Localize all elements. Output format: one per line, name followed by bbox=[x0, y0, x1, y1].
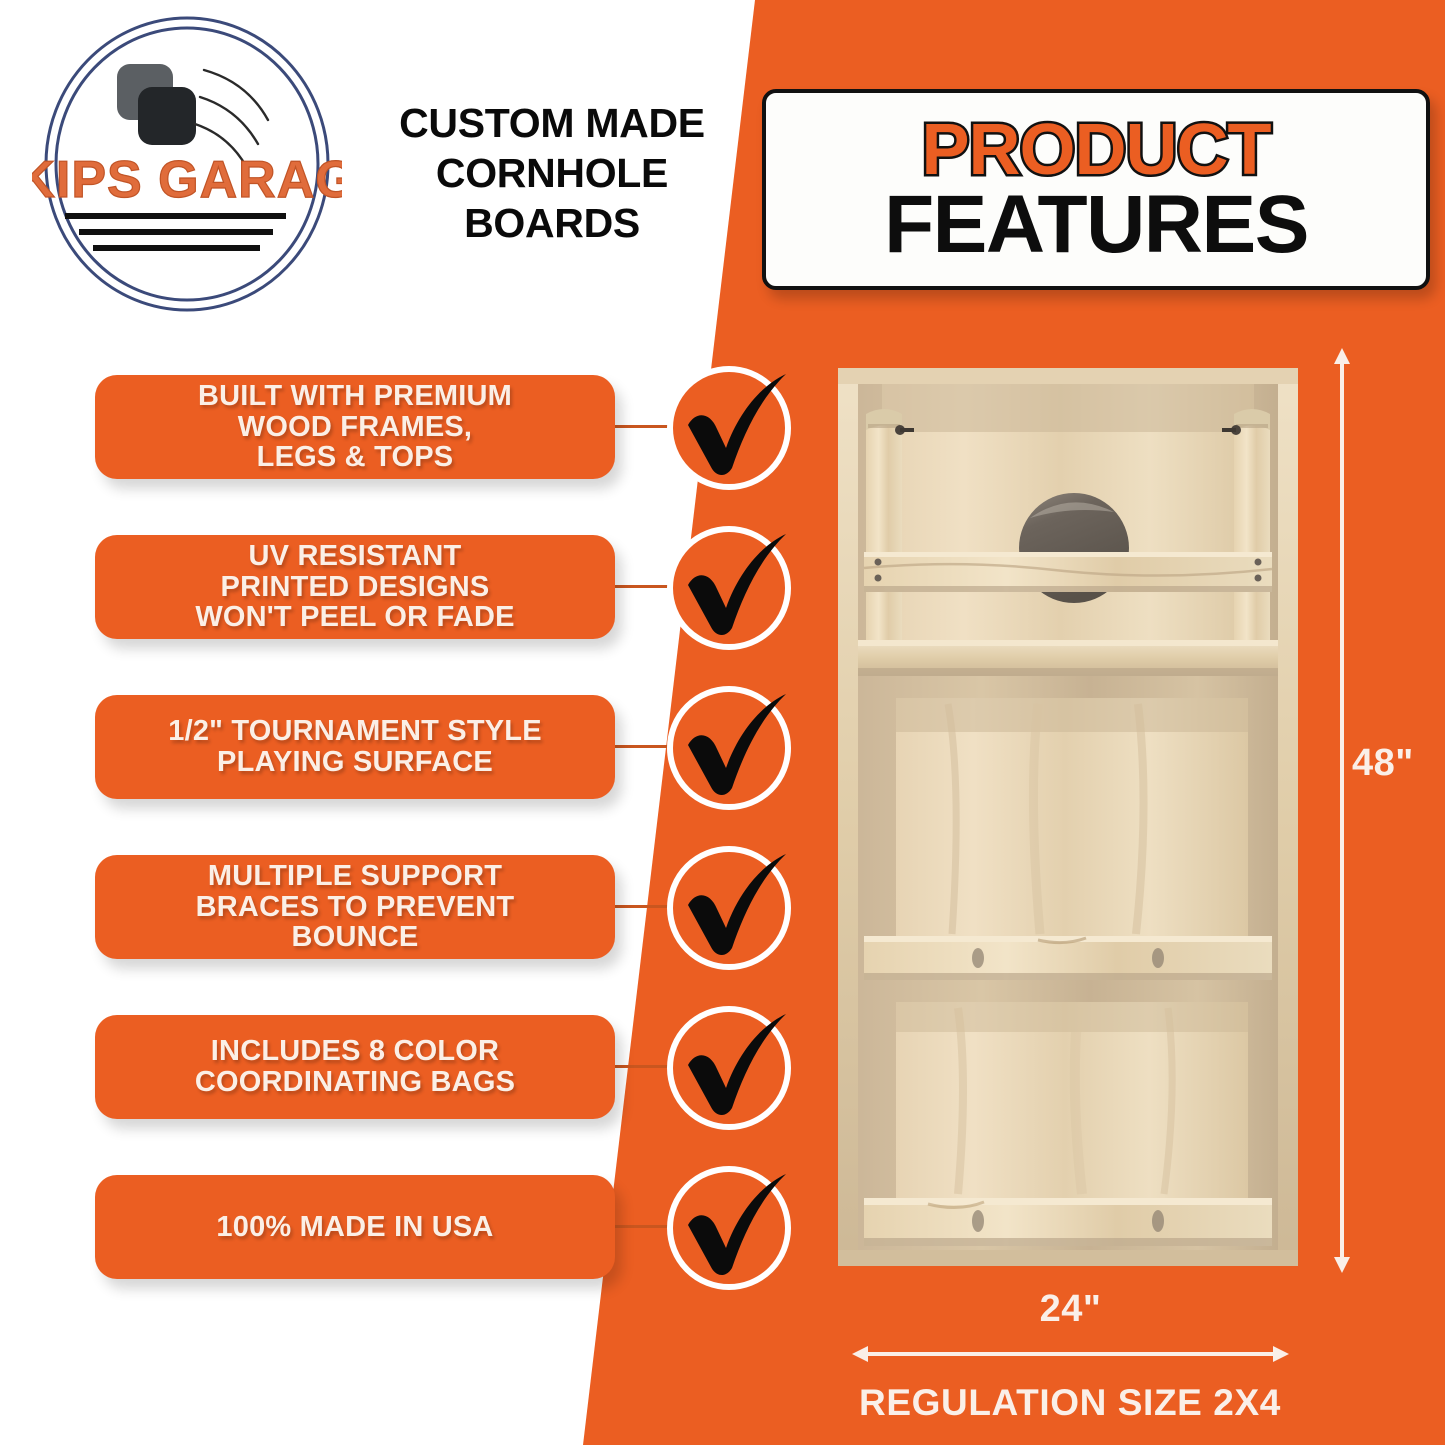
page-title: CUSTOM MADE CORNHOLE BOARDS bbox=[352, 98, 752, 248]
feature-row: 100% MADE IN USA bbox=[0, 1165, 830, 1325]
feature-text-line: BUILT WITH PREMIUM bbox=[198, 380, 512, 412]
feature-text-line: WOOD FRAMES, bbox=[238, 411, 472, 443]
feature-text-line: 100% MADE IN USA bbox=[216, 1211, 493, 1243]
title-line-2: CORNHOLE bbox=[352, 148, 752, 198]
checkmark-icon bbox=[668, 367, 790, 489]
svg-text:SKIPS GARAGE: SKIPS GARAGE bbox=[32, 151, 342, 209]
feature-row: INCLUDES 8 COLOR COORDINATING BAGS bbox=[0, 1005, 830, 1165]
feature-text-line: LEGS & TOPS bbox=[257, 441, 454, 473]
height-dimension-label: 48" bbox=[1352, 742, 1414, 785]
feature-text-line: UV RESISTANT bbox=[249, 540, 462, 572]
height-dimension-arrow bbox=[1330, 348, 1354, 1273]
feature-pill[interactable]: BUILT WITH PREMIUM WOOD FRAMES, LEGS & T… bbox=[95, 375, 615, 479]
feature-pill[interactable]: 1/2" TOURNAMENT STYLE PLAYING SURFACE bbox=[95, 695, 615, 799]
checkmark-icon bbox=[668, 527, 790, 649]
checkmark-icon bbox=[668, 847, 790, 969]
feature-row: BUILT WITH PREMIUM WOOD FRAMES, LEGS & T… bbox=[0, 365, 830, 525]
checkmark-icon bbox=[668, 1167, 790, 1289]
product-features-banner: PRODUCT FEATURES bbox=[762, 89, 1430, 290]
infographic-canvas: SKIPS GARAGE CUSTOM MADE CORNHOLE BOARDS… bbox=[0, 0, 1445, 1445]
banner-line-features: FEATURES bbox=[884, 186, 1308, 264]
feature-text-line: WON'T PEEL OR FADE bbox=[195, 601, 514, 633]
feature-text-line: BRACES TO PREVENT bbox=[196, 891, 515, 923]
regulation-size-caption: REGULATION SIZE 2X4 bbox=[760, 1382, 1380, 1424]
feature-row: UV RESISTANT PRINTED DESIGNS WON'T PEEL … bbox=[0, 525, 830, 685]
cornhole-board-photo bbox=[838, 368, 1298, 1266]
feature-pill-text: MULTIPLE SUPPORT BRACES TO PREVENT BOUNC… bbox=[196, 861, 515, 953]
feature-row: MULTIPLE SUPPORT BRACES TO PREVENT BOUNC… bbox=[0, 845, 830, 1005]
feature-row: 1/2" TOURNAMENT STYLE PLAYING SURFACE bbox=[0, 685, 830, 845]
feature-pill[interactable]: UV RESISTANT PRINTED DESIGNS WON'T PEEL … bbox=[95, 535, 615, 639]
feature-pill[interactable]: INCLUDES 8 COLOR COORDINATING BAGS bbox=[95, 1015, 615, 1119]
feature-pill-text: 1/2" TOURNAMENT STYLE PLAYING SURFACE bbox=[168, 716, 542, 777]
feature-text-line: COORDINATING BAGS bbox=[195, 1066, 515, 1098]
feature-pill-text: UV RESISTANT PRINTED DESIGNS WON'T PEEL … bbox=[195, 541, 514, 633]
feature-pill[interactable]: MULTIPLE SUPPORT BRACES TO PREVENT BOUNC… bbox=[95, 855, 615, 959]
feature-text-line: PRINTED DESIGNS bbox=[221, 571, 490, 603]
feature-text-line: PLAYING SURFACE bbox=[217, 746, 493, 778]
feature-text-line: 1/2" TOURNAMENT STYLE bbox=[168, 715, 542, 747]
banner-line-product: PRODUCT bbox=[922, 117, 1271, 185]
title-line-3: BOARDS bbox=[352, 198, 752, 248]
feature-pill-text: BUILT WITH PREMIUM WOOD FRAMES, LEGS & T… bbox=[198, 381, 512, 473]
feature-text-line: INCLUDES 8 COLOR bbox=[211, 1035, 499, 1067]
title-line-1: CUSTOM MADE bbox=[352, 98, 752, 148]
brand-logo: SKIPS GARAGE bbox=[32, 14, 342, 314]
feature-text-line: MULTIPLE SUPPORT bbox=[208, 860, 502, 892]
feature-pill-text: 100% MADE IN USA bbox=[216, 1212, 493, 1243]
width-dimension-arrow bbox=[852, 1343, 1289, 1365]
checkmark-icon bbox=[668, 687, 790, 809]
checkmark-icon bbox=[668, 1007, 790, 1129]
width-dimension-label: 24" bbox=[852, 1288, 1289, 1331]
feature-pill-text: INCLUDES 8 COLOR COORDINATING BAGS bbox=[195, 1036, 515, 1097]
feature-pill[interactable]: 100% MADE IN USA bbox=[95, 1175, 615, 1279]
feature-text-line: BOUNCE bbox=[292, 921, 419, 953]
